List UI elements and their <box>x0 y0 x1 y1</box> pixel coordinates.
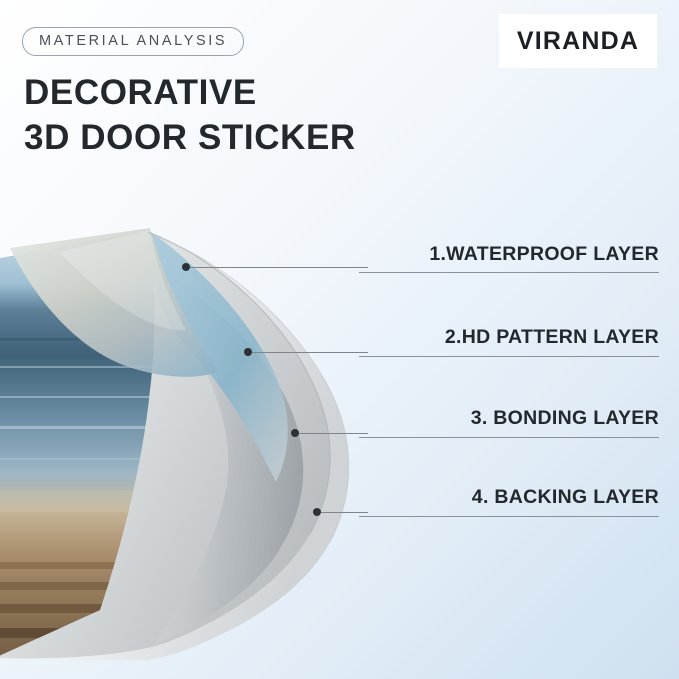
callout-underline-4 <box>359 516 659 517</box>
callout-underline-2 <box>359 356 659 357</box>
page-title-line-1: DECORATIVE <box>24 73 257 113</box>
callout-dot-4 <box>313 508 321 516</box>
callout-dot-3 <box>291 429 299 437</box>
callout-leader-1 <box>190 267 368 268</box>
callout-label-1: 1.WATERPROOF LAYER <box>359 243 659 266</box>
brand-name: VIRANDA <box>517 27 639 56</box>
callout-label-4: 4. BACKING LAYER <box>359 486 659 509</box>
callout-label-2: 2.HD PATTERN LAYER <box>359 326 659 349</box>
callout-dot-1 <box>182 263 190 271</box>
callout-leader-4 <box>321 512 368 513</box>
callout-dot-2 <box>244 348 252 356</box>
callout-label-3: 3. BONDING LAYER <box>359 407 659 430</box>
callout-leader-2 <box>252 352 368 353</box>
callout-leader-3 <box>299 433 368 434</box>
callout-underline-3 <box>359 437 659 438</box>
page-title-line-2: 3D DOOR STICKER <box>24 118 356 158</box>
eyebrow-badge: MATERIAL ANALYSIS <box>22 27 244 56</box>
callout-underline-1 <box>359 272 659 273</box>
brand-logo-box: VIRANDA <box>499 14 657 68</box>
poster-canvas: MATERIAL ANALYSIS DECORATIVE 3D DOOR STI… <box>0 0 679 679</box>
